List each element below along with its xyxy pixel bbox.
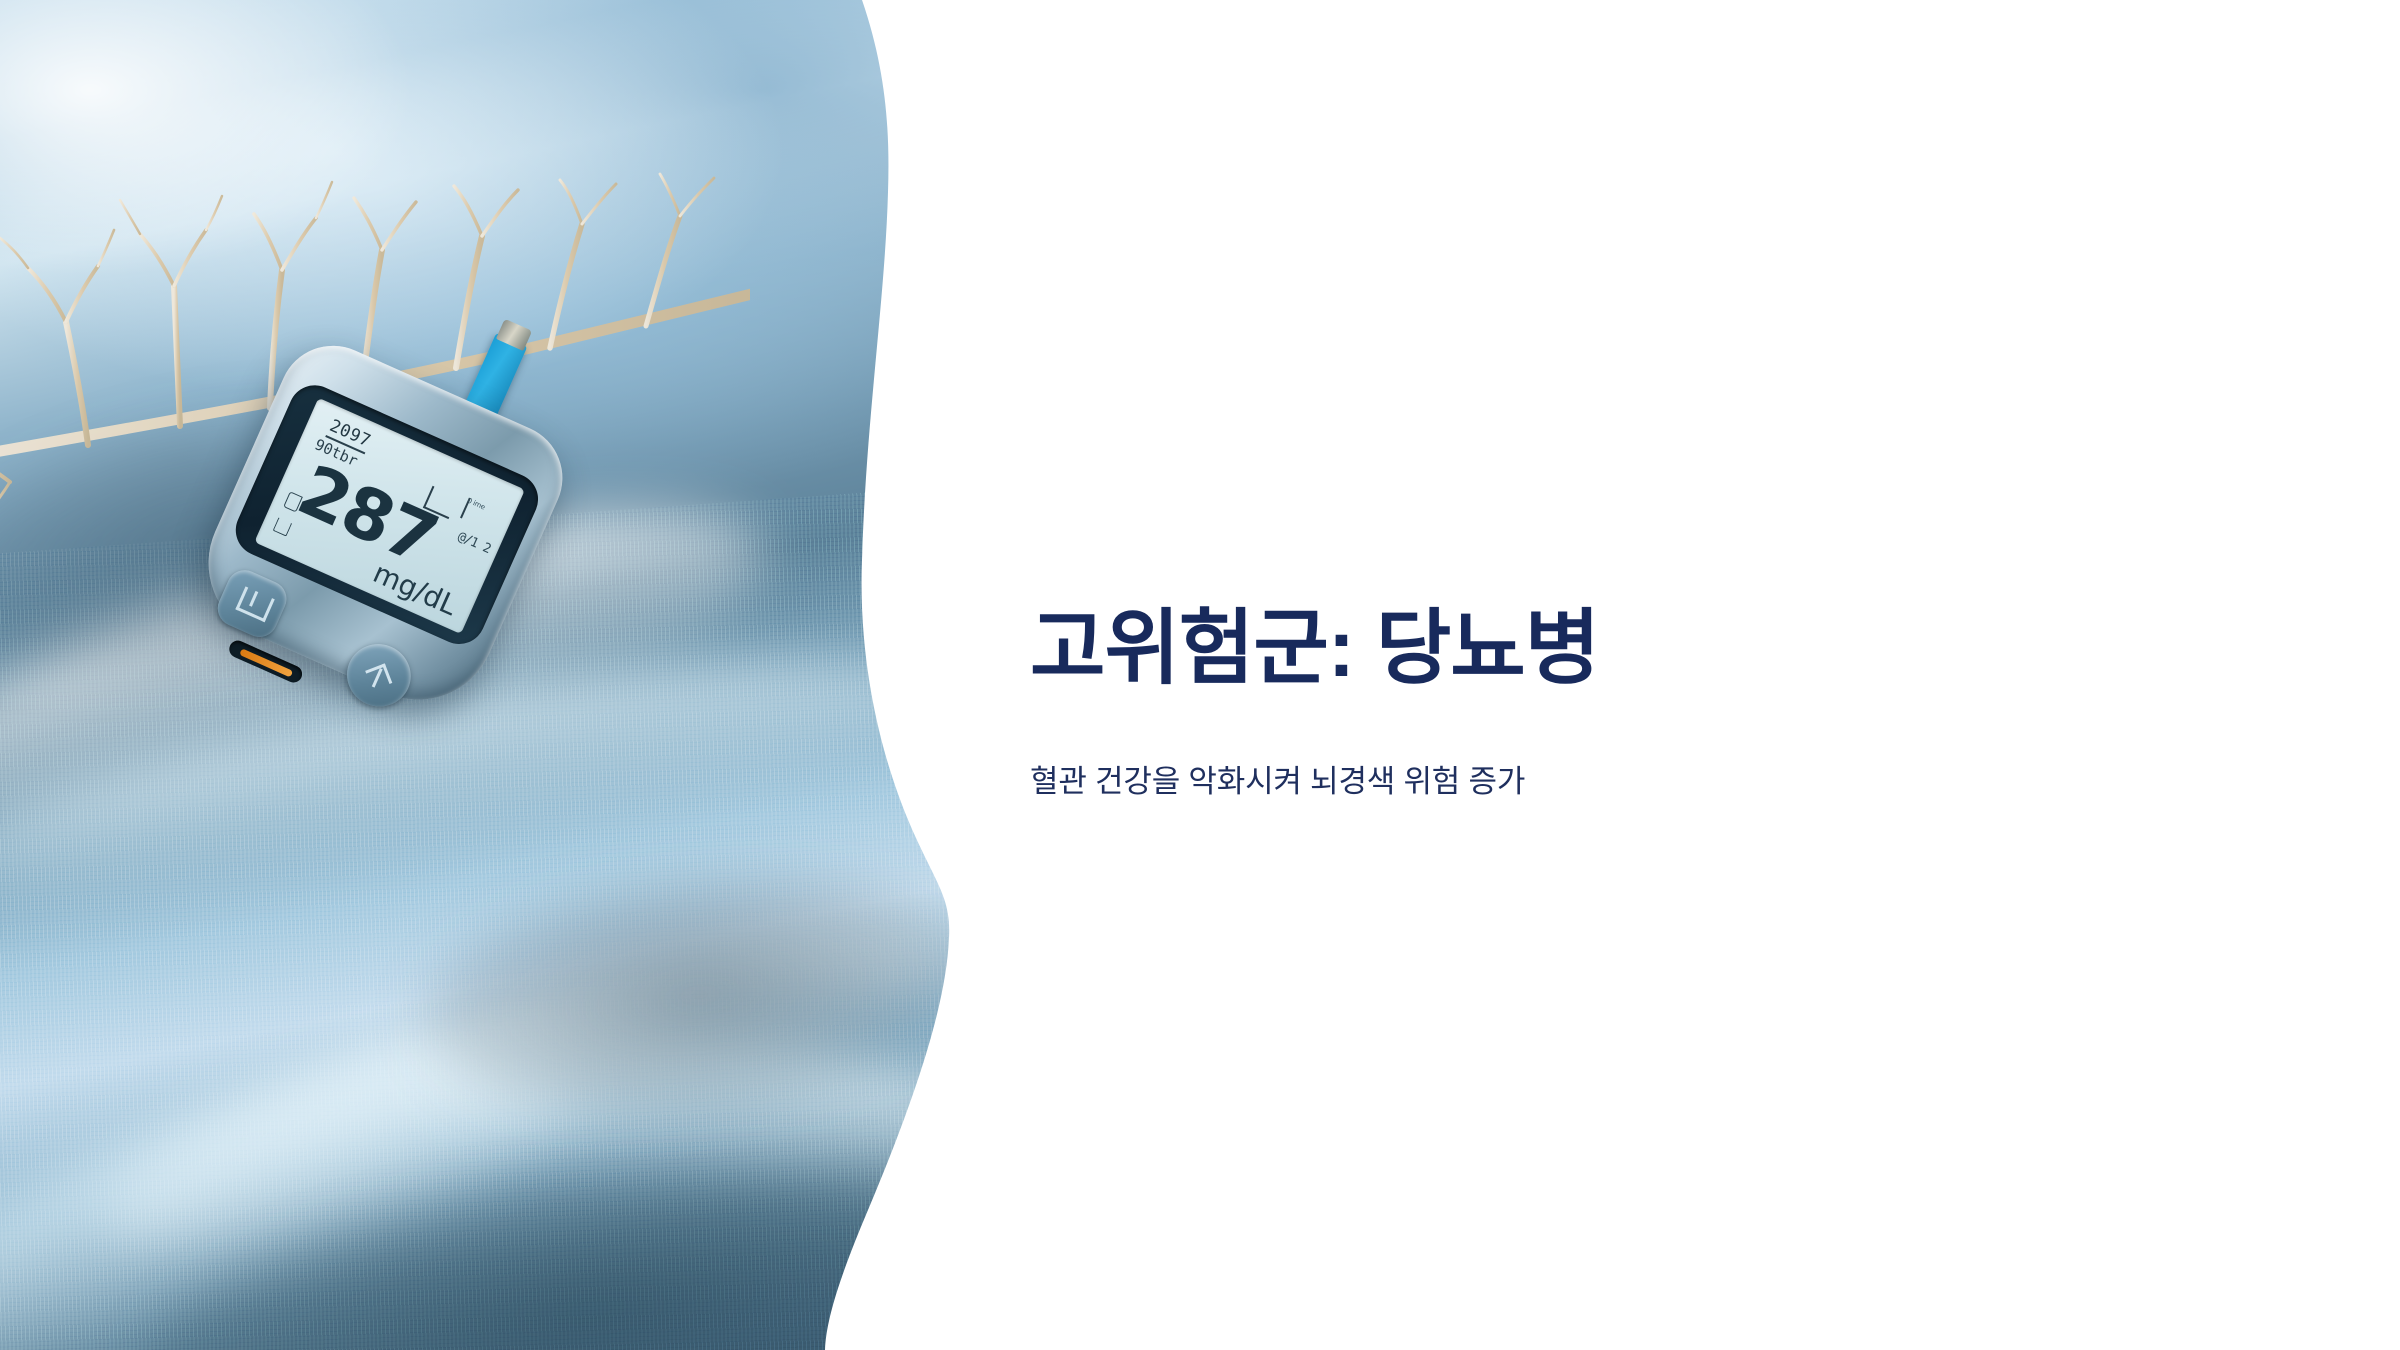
hero-image-clip: 2097 90tbr 0 ime @/1 2 287 mg/dL: [0, 0, 960, 1350]
lcd-micro-text: 0 ime: [466, 498, 507, 521]
meter-lcd-screen: 2097 90tbr 0 ime @/1 2 287 mg/dL: [254, 398, 525, 634]
hero-image-panel: 2097 90tbr 0 ime @/1 2 287 mg/dL: [0, 0, 960, 1350]
page-title: 고위험군: 당뇨병: [1030, 608, 1599, 690]
page-subtitle: 혈관 건강을 악화시켜 뇌경색 위험 증가: [1030, 762, 1525, 802]
lcd-micro-text-2: @/1 2: [455, 529, 492, 557]
slide-root: 2097 90tbr 0 ime @/1 2 287 mg/dL: [0, 0, 2400, 1350]
glucose-reading-value: 287: [289, 454, 445, 575]
content-column: 고위험군: 당뇨병 혈관 건강을 악화시켜 뇌경색 위험 증가: [1030, 0, 2230, 1350]
